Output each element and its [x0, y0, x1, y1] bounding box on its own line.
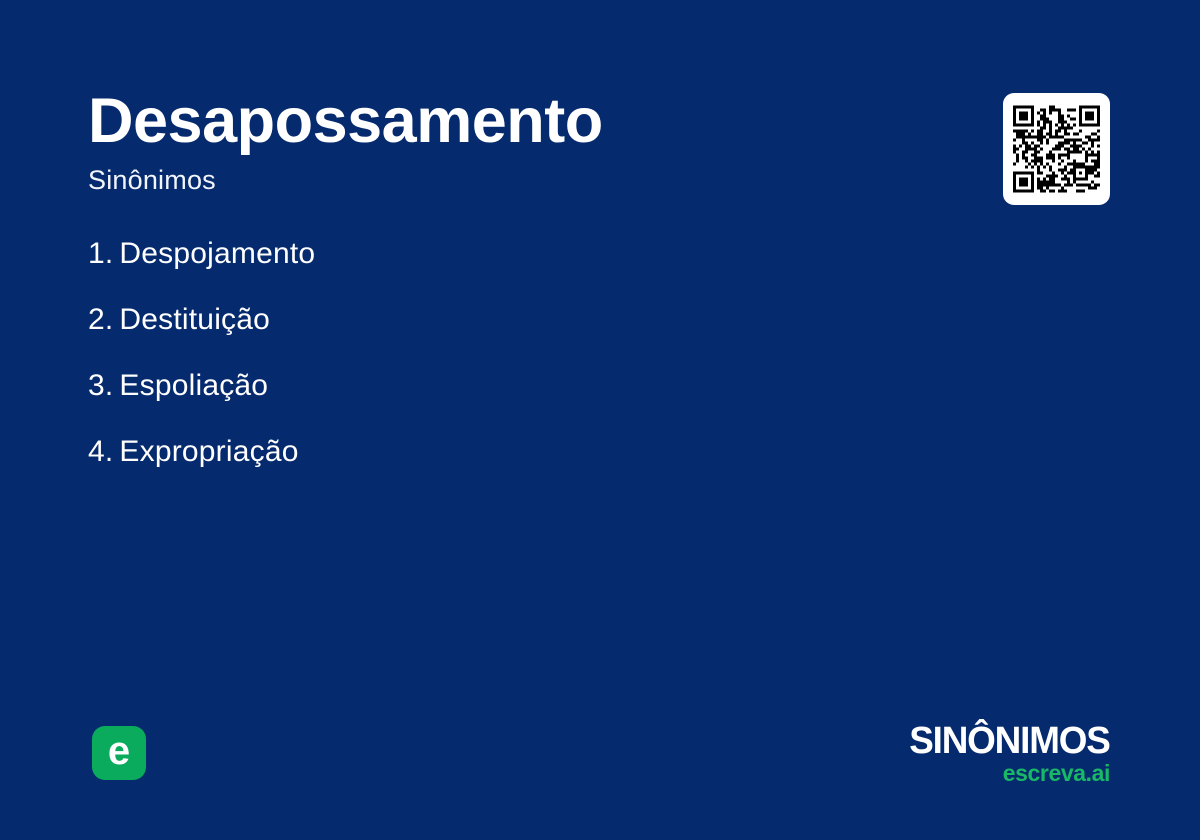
list-item-label: Espoliação [119, 369, 268, 402]
brand-domain: escreva.ai [903, 761, 1110, 785]
brand-name: SINÔNIMOS [910, 722, 1110, 760]
list-item-label: Expropriação [119, 435, 298, 468]
synonym-card: Desapossamento Sinônimos 1.Despojamento … [0, 0, 1200, 840]
list-item-label: Despojamento [119, 237, 315, 270]
list-item-number: 2. [88, 303, 113, 336]
list-item-number: 4. [88, 435, 113, 468]
list-item: 4.Expropriação [88, 435, 888, 469]
page-title: Desapossamento [88, 88, 908, 154]
escreva-e-logo-icon[interactable]: e [92, 726, 146, 780]
qr-code-panel[interactable] [1003, 93, 1110, 205]
headline-block: Desapossamento Sinônimos [88, 88, 908, 196]
page-subtitle: Sinônimos [88, 166, 908, 196]
escreva-e-letter: e [108, 731, 130, 771]
list-item-label: Destituição [119, 303, 270, 336]
list-item-number: 1. [88, 237, 113, 270]
brand-lockup[interactable]: SINÔNIMOS escreva.ai [903, 722, 1110, 785]
list-item: 3.Espoliação [88, 369, 888, 403]
list-item-number: 3. [88, 369, 113, 402]
list-item: 1.Despojamento [88, 237, 888, 271]
list-item: 2.Destituição [88, 303, 888, 337]
qr-code-icon [1013, 105, 1100, 193]
synonyms-list: 1.Despojamento 2.Destituição 3.Espoliaçã… [88, 237, 888, 501]
